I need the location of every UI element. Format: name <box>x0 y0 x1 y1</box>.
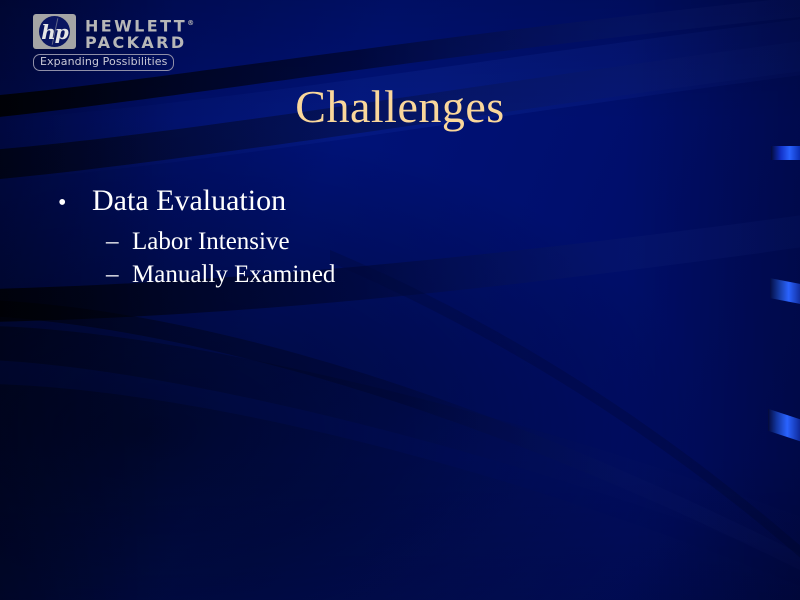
hp-mark-letters: hp <box>41 22 68 42</box>
slide-title: Challenges <box>0 80 800 134</box>
bullet-text: Manually Examined <box>132 258 335 291</box>
slide-body: • Data Evaluation – Labor Intensive – Ma… <box>58 181 740 291</box>
hp-wordmark-line1-text: HEWLETT <box>85 16 187 35</box>
hp-mark-circle-icon: hp <box>39 16 70 47</box>
hp-wordmark-line1: HEWLETT® <box>85 15 194 34</box>
dash-marker-icon: – <box>106 225 132 258</box>
hp-wordmark: HEWLETT® PACKARD <box>85 14 194 51</box>
bullet-item-level2: – Labor Intensive <box>106 225 740 258</box>
bullet-text: Labor Intensive <box>132 225 290 258</box>
bullet-item-level2: – Manually Examined <box>106 258 740 291</box>
accent-bar-top-icon <box>771 146 800 160</box>
accent-bar-lower-icon <box>768 409 800 441</box>
hp-wordmark-line2: PACKARD <box>85 34 194 51</box>
dash-marker-icon: – <box>106 258 132 291</box>
bullet-marker-icon: • <box>58 183 92 223</box>
registered-trademark-icon: ® <box>187 19 194 27</box>
bullet-text: Data Evaluation <box>92 181 286 221</box>
bullet-item-level1: • Data Evaluation <box>58 181 740 223</box>
presentation-slide: hp HEWLETT® PACKARD Expanding Possibilit… <box>0 0 800 600</box>
hp-tagline: Expanding Possibilities <box>40 56 167 68</box>
accent-bar-middle-icon <box>770 278 800 304</box>
hp-mark-icon: hp <box>33 14 76 49</box>
hp-tagline-box: Expanding Possibilities <box>33 54 174 71</box>
hp-logo-top-row: hp HEWLETT® PACKARD <box>33 14 173 51</box>
hp-logo: hp HEWLETT® PACKARD Expanding Possibilit… <box>33 14 173 76</box>
